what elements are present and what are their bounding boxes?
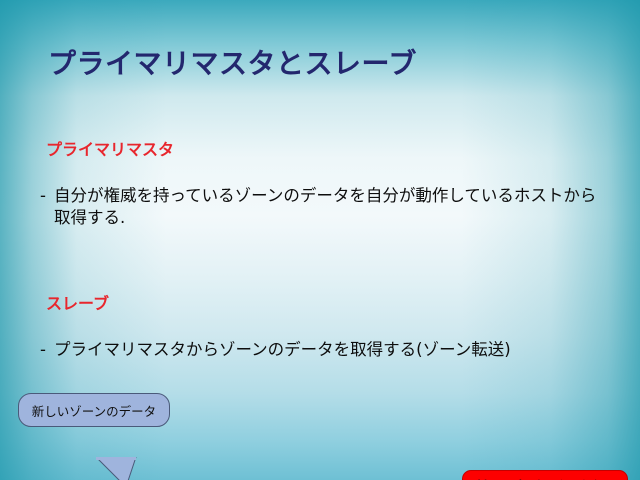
bullet-slave: - プライマリマスタからゾーンのデータを取得する(ゾーン転送) xyxy=(40,339,600,361)
presentation-slide: プライマリマスタとスレーブ プライマリマスタ - 自分が権威を持っているゾーンの… xyxy=(0,0,640,480)
section-heading-slave: スレーブ xyxy=(46,290,640,314)
speech-bubble-new-zone-data: 新しいゾーンのデータ xyxy=(18,393,170,427)
speech-bubble-new-data-question: 新しいデータはあるかな？ xyxy=(462,470,628,480)
bullet-marker: - xyxy=(40,339,46,361)
section-heading-primary-master: プライマリマスタ xyxy=(46,136,640,160)
bullet-text: 自分が権威を持っているゾーンのデータを自分が動作しているホストから取得する. xyxy=(54,185,600,229)
speech-bubble-tail-icon xyxy=(96,457,146,480)
bullet-marker: - xyxy=(40,185,46,229)
slide-title: プライマリマスタとスレーブ xyxy=(48,42,640,82)
bullet-text: プライマリマスタからゾーンのデータを取得する(ゾーン転送) xyxy=(54,339,511,361)
bullet-primary-master: - 自分が権威を持っているゾーンのデータを自分が動作しているホストから取得する. xyxy=(40,185,600,229)
